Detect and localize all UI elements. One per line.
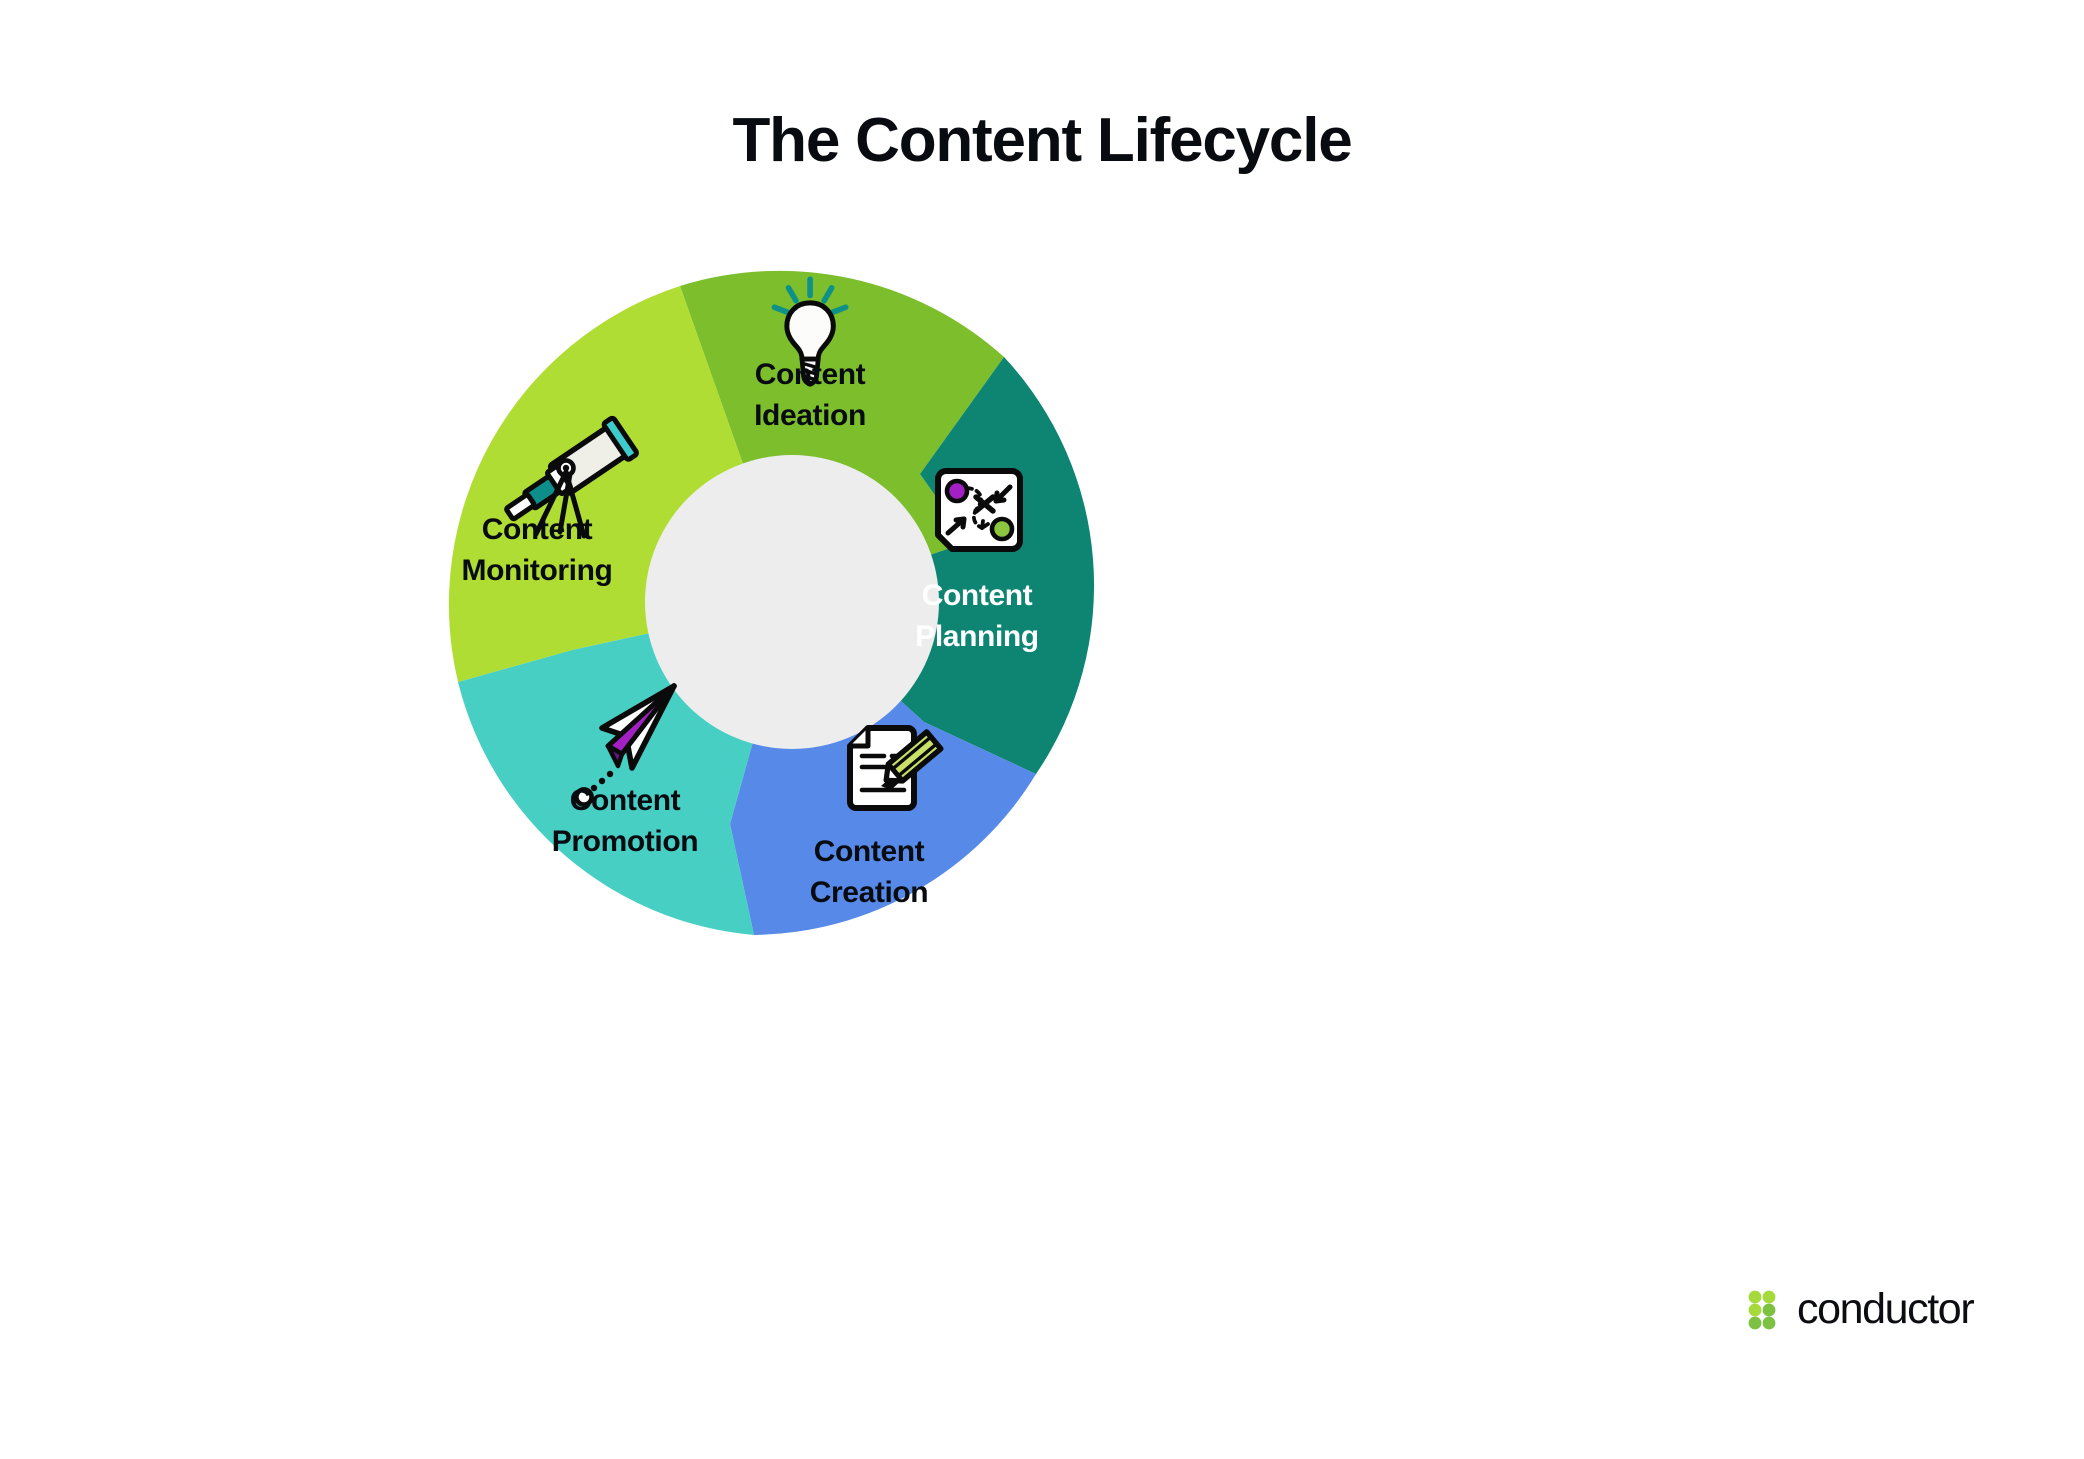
- content-lifecycle-wheel: Content Ideation Content Planning Conten…: [412, 222, 1172, 982]
- conductor-logo: conductor: [1748, 1288, 1973, 1331]
- conductor-wordmark: conductor: [1797, 1288, 1973, 1331]
- monitoring-label-line2: Monitoring: [462, 554, 613, 587]
- creation-label-line1: Content: [814, 835, 925, 868]
- promotion-label-line1: Content: [570, 784, 681, 817]
- strategy-board-icon: [938, 471, 1020, 549]
- ideation-label-line1: Content: [755, 358, 866, 391]
- creation-label-line2: Creation: [810, 876, 929, 909]
- promotion-label-line2: Promotion: [552, 825, 698, 858]
- conductor-logo-mark: [1748, 1289, 1786, 1331]
- planning-label-line2: Planning: [915, 620, 1038, 653]
- wheel-center-hole: [645, 455, 939, 749]
- ideation-label-line2: Ideation: [754, 399, 866, 432]
- planning-label-line1: Content: [922, 579, 1033, 612]
- monitoring-label-line1: Content: [482, 513, 593, 546]
- page-title: The Content Lifecycle: [0, 105, 2084, 176]
